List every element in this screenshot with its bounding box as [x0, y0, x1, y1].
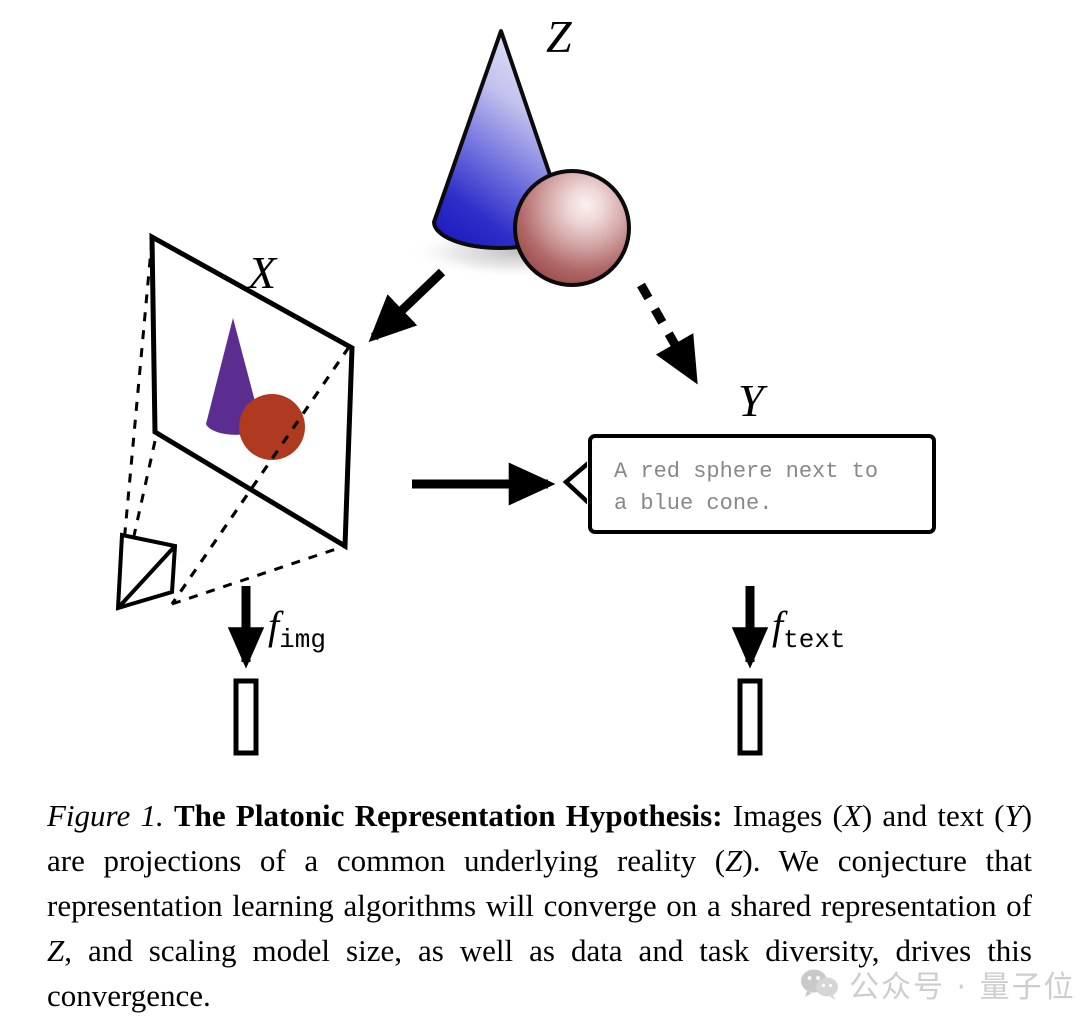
arrow-z-to-x — [374, 272, 442, 337]
watermark: 公众号 · 量子位 — [800, 962, 1076, 1006]
f-img-symbol: f — [268, 603, 279, 648]
wechat-bubbles-icon — [800, 968, 840, 1000]
label-x: X — [248, 250, 276, 296]
caption-var-x: X — [843, 798, 862, 833]
f-text-symbol: f — [772, 603, 783, 648]
figure-vector-canvas — [0, 0, 1076, 790]
caption-figure-number: Figure 1. — [47, 798, 164, 833]
caption-var-z2: Z — [47, 933, 64, 968]
label-y: Y — [738, 378, 764, 424]
f-img-subscript: img — [279, 625, 326, 655]
label-f-text: ftext — [772, 606, 846, 653]
f-text-subscript: text — [783, 625, 845, 655]
caption-title: The Platonic Representation Hypothesis: — [174, 798, 723, 833]
arrow-z-to-y — [641, 285, 694, 378]
red-sphere-3d — [515, 171, 629, 285]
caption-body-2: ) and text ( — [862, 798, 1005, 833]
label-z: Z — [546, 14, 572, 60]
label-f-img: fimg — [268, 606, 326, 653]
text-embedding-vector — [740, 681, 760, 753]
text-speech-bubble: A red sphere next to a blue cone. — [588, 434, 936, 534]
watermark-text: 公众号 · 量子位 — [849, 962, 1076, 1006]
speech-bubble-text: A red sphere next to a blue cone. — [614, 456, 926, 520]
figure-diagram: A red sphere next to a blue cone. Z X Y … — [0, 0, 1076, 790]
reality-scene-z — [408, 31, 632, 285]
caption-var-z: Z — [725, 843, 742, 878]
caption-body-1: Images ( — [723, 798, 843, 833]
caption-var-y: Y — [1004, 798, 1021, 833]
image-embedding-vector — [236, 681, 256, 753]
